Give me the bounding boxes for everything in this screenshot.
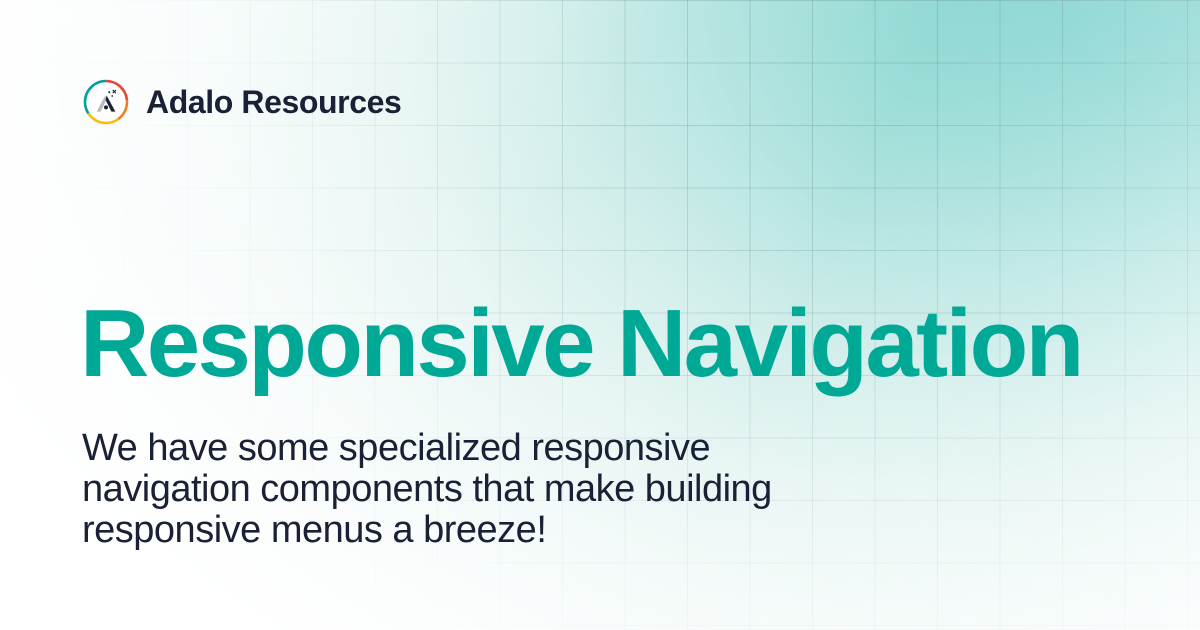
page-description: We have some specialized responsive navi… — [82, 428, 802, 551]
brand-lockup: Adalo Resources — [82, 78, 401, 126]
og-card: Adalo Resources Responsive Navigation We… — [0, 0, 1200, 630]
page-title: Responsive Navigation — [80, 296, 1082, 392]
adalo-logo-icon — [82, 78, 130, 126]
brand-name: Adalo Resources — [146, 86, 401, 118]
card-content: Adalo Resources Responsive Navigation We… — [0, 0, 1200, 630]
